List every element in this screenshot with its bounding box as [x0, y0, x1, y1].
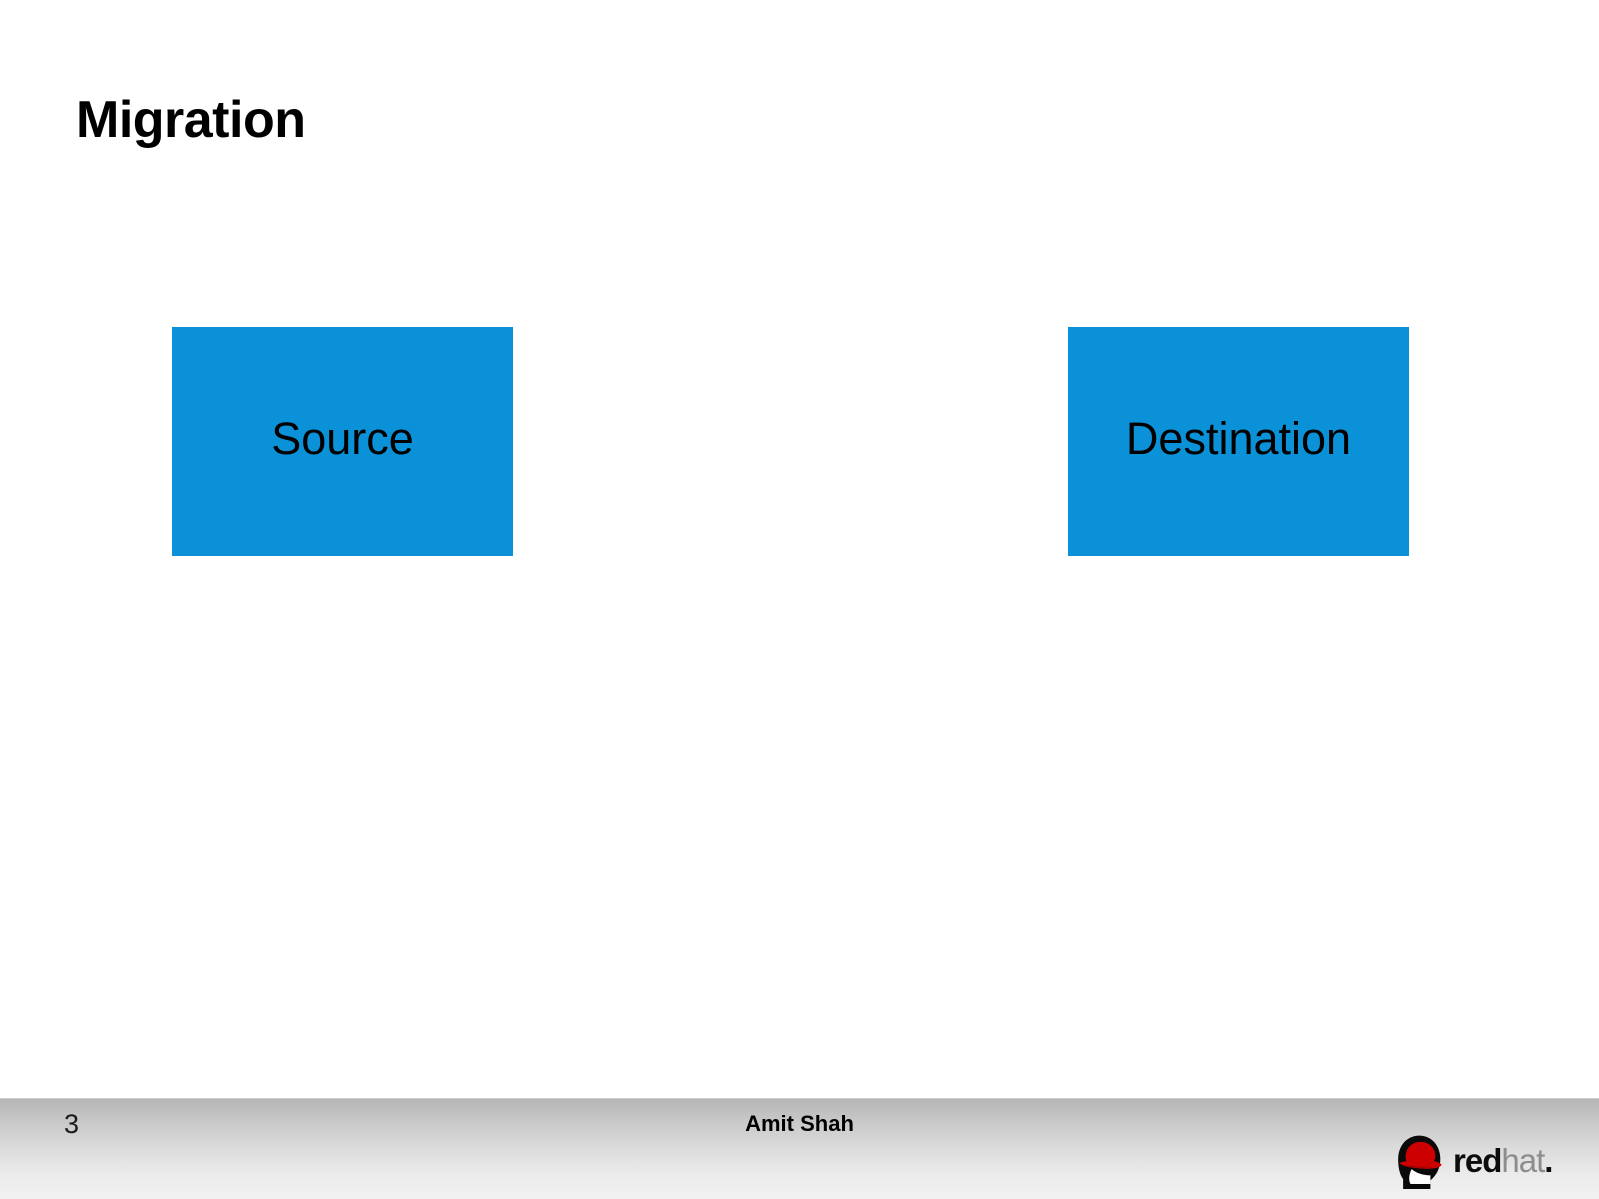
slide-footer: 3 Amit Shah redhat.	[0, 1098, 1599, 1199]
redhat-shadowman-icon	[1387, 1127, 1449, 1189]
redhat-logo: redhat.	[1387, 1105, 1547, 1191]
diagram-node-source[interactable]: Source	[172, 327, 513, 556]
redhat-wordmark-hat: hat	[1501, 1142, 1544, 1179]
presenter-name: Amit Shah	[0, 1113, 1599, 1135]
redhat-wordmark-red: red	[1453, 1142, 1501, 1179]
redhat-wordmark: redhat.	[1453, 1144, 1553, 1177]
diagram-node-destination[interactable]: Destination	[1068, 327, 1409, 556]
diagram-node-destination-label: Destination	[1126, 416, 1351, 461]
slide: Migration Source Destination 3 Amit Shah	[0, 0, 1599, 1199]
diagram-node-source-label: Source	[271, 416, 414, 461]
diagram-canvas: Source Destination	[0, 0, 1599, 1098]
redhat-wordmark-dot: .	[1544, 1142, 1553, 1179]
